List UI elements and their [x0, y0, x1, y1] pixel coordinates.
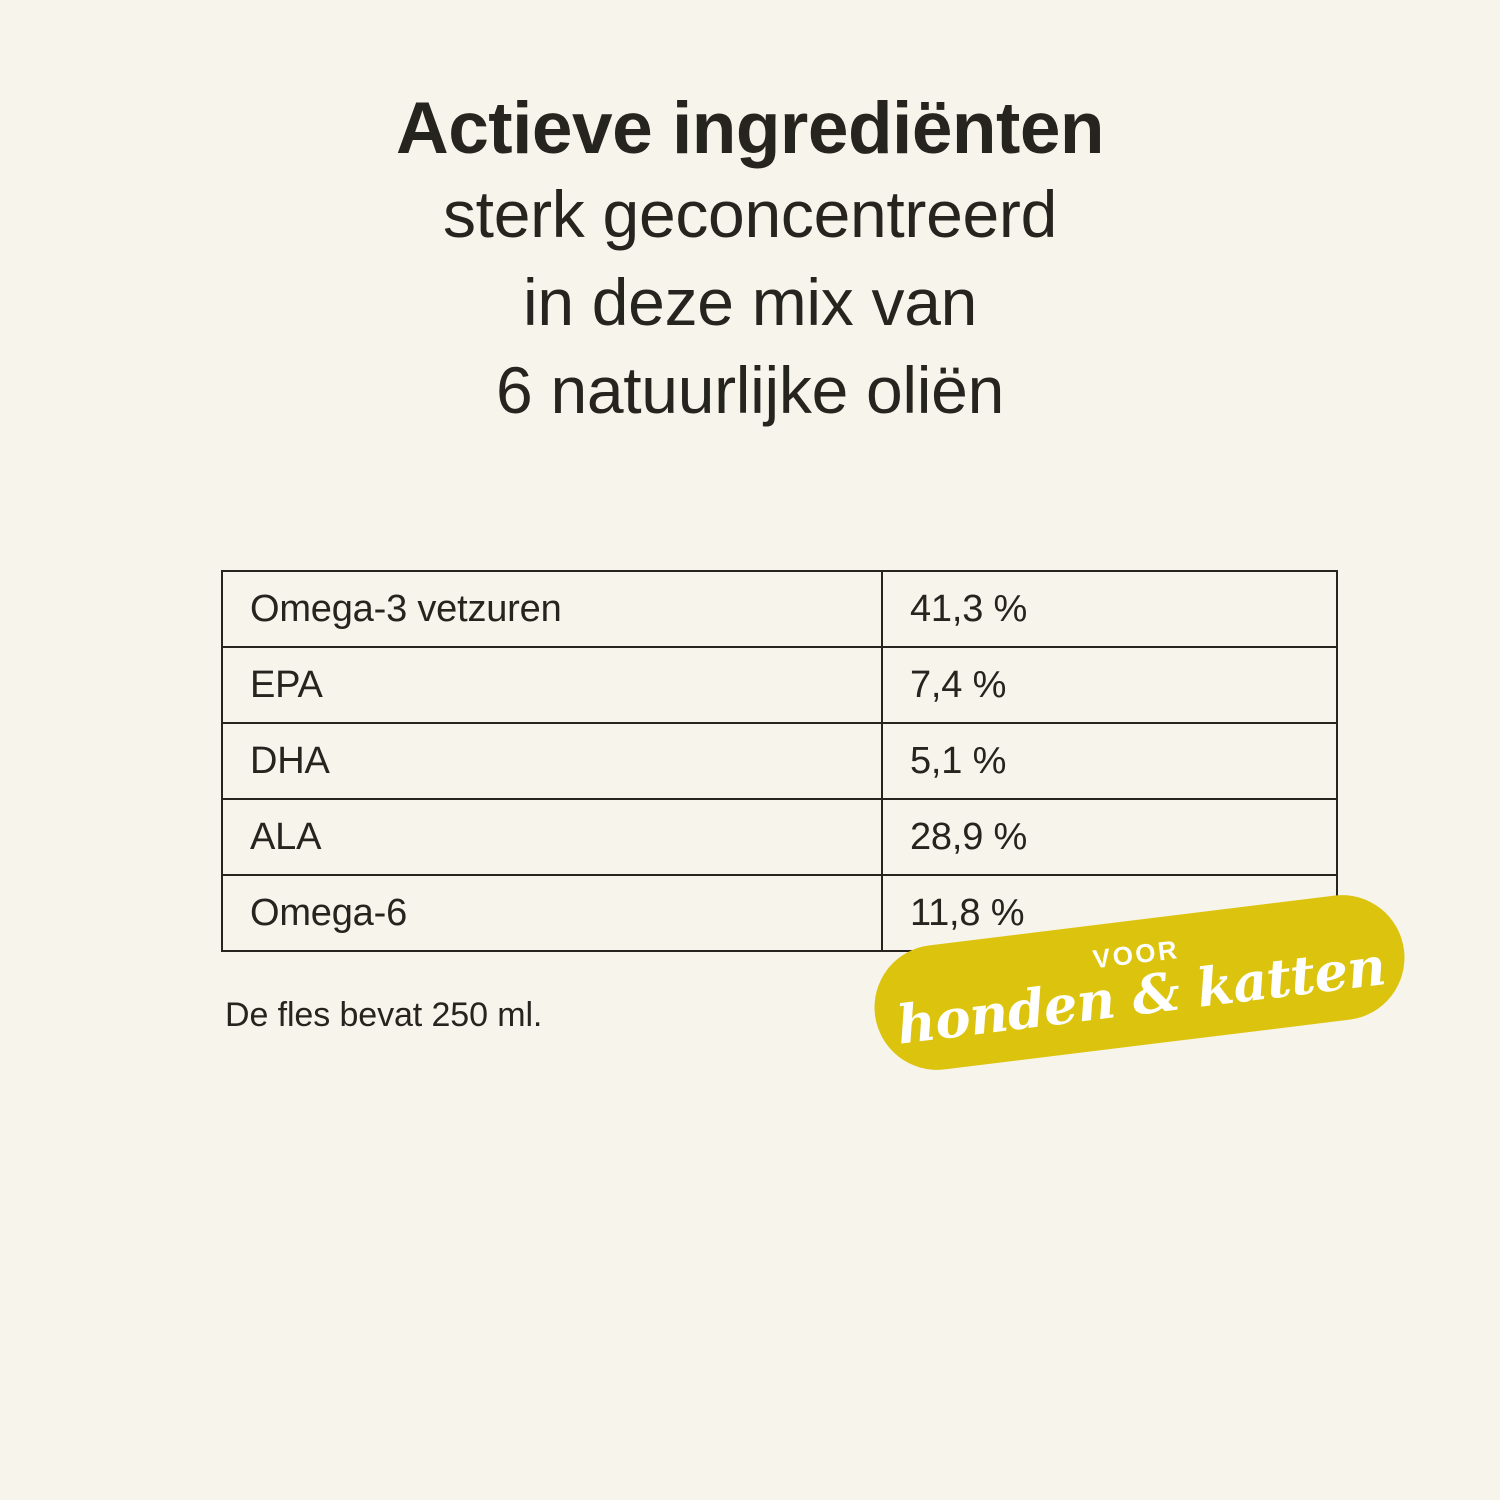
table-row: Omega-3 vetzuren 41,3 % — [222, 571, 1337, 647]
heading-block: Actieve ingrediënten sterk geconcentreer… — [0, 92, 1500, 434]
ingredient-name: EPA — [222, 647, 882, 723]
ingredients-table: Omega-3 vetzuren 41,3 % EPA 7,4 % DHA 5,… — [221, 570, 1338, 952]
ingredient-value: 7,4 % — [882, 647, 1337, 723]
ingredient-name: Omega-3 vetzuren — [222, 571, 882, 647]
table-row: EPA 7,4 % — [222, 647, 1337, 723]
bottle-volume-note: De fles bevat 250 ml. — [225, 996, 542, 1035]
ingredient-name: ALA — [222, 799, 882, 875]
page-subtitle: sterk geconcentreerd in deze mix van 6 n… — [0, 171, 1500, 434]
page-subtitle-line-2: in deze mix van — [0, 259, 1500, 347]
product-info-panel: Actieve ingrediënten sterk geconcentreer… — [0, 0, 1500, 1500]
ingredient-value: 5,1 % — [882, 723, 1337, 799]
table-row: ALA 28,9 % — [222, 799, 1337, 875]
ingredient-value: 28,9 % — [882, 799, 1337, 875]
page-title: Actieve ingrediënten — [0, 92, 1500, 165]
ingredient-name: Omega-6 — [222, 875, 882, 951]
ingredient-value: 41,3 % — [882, 571, 1337, 647]
page-subtitle-line-1: sterk geconcentreerd — [0, 171, 1500, 259]
table-row: DHA 5,1 % — [222, 723, 1337, 799]
page-subtitle-line-3: 6 natuurlijke oliën — [0, 347, 1500, 435]
ingredient-name: DHA — [222, 723, 882, 799]
